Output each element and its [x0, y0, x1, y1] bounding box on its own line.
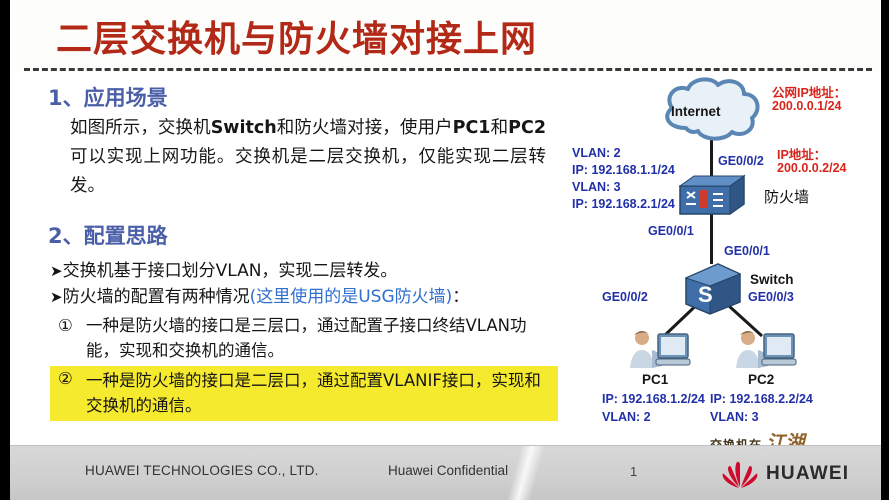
firewall-vlan-line: IP: 192.168.2.1/24 [572, 197, 675, 211]
slide-footer: HUAWEI TECHNOLOGIES CO., LTD. Huawei Con… [10, 445, 881, 500]
config-bullet-2-text: 防火墙的配置有两种情况 [63, 287, 250, 307]
pc2-vlan-label: VLAN: 3 [710, 410, 759, 424]
config-bullet-2-colon: ： [452, 287, 469, 307]
public-ip-value: 200.0.0.1/24 [772, 99, 842, 113]
bullet-arrow-icon: ➤ [50, 262, 63, 280]
footer-page-number: 1 [630, 464, 637, 479]
section-heading-config: 2、配置思路 [48, 220, 168, 250]
firewall-vlan-info-block: VLAN: 2 IP: 192.168.1.1/24 VLAN: 3 IP: 1… [572, 146, 675, 211]
footer-company-text: HUAWEI TECHNOLOGIES CO., LTD. [85, 463, 319, 478]
page-title: 二层交换机与防火墙对接上网 [56, 10, 537, 62]
slide-title-bar: 二层交换机与防火墙对接上网 [10, 0, 881, 72]
firewall-vlan-line: VLAN: 3 [572, 180, 675, 194]
config-numbered-item: ① 一种是防火墙的接口是三层口，通过配置子接口终结VLAN功能，实现和交换机的通… [50, 313, 558, 363]
pc2-user-icon [732, 326, 802, 372]
firewall-ip-value: 200.0.0.2/24 [777, 161, 847, 175]
config-bullet-1: ➤交换机基于接口划分VLAN，实现二层转发。 [50, 258, 558, 284]
scenario-text-4: 可以实现上网功能。交换机是二层交换机，仅能实现二层转发。 [70, 147, 546, 196]
pc1-name-label: PC1 [642, 372, 668, 387]
config-bullet-2-note: (这里使用的是USG防火墙) [250, 287, 453, 307]
scenario-paragraph: 如图所示，交换机Switch和防火墙对接，使用户PC1和PC2可以实现上网功能。… [70, 114, 546, 201]
config-bullet-list: ➤交换机基于接口划分VLAN，实现二层转发。 ➤防火墙的配置有两种情况(这里使用… [50, 258, 558, 421]
scenario-bold-pc1: PC1 [453, 118, 491, 138]
internet-label: Internet [671, 104, 721, 119]
title-divider [24, 68, 872, 71]
switch-port-ge0-0-1-label: GE0/0/1 [724, 244, 770, 258]
network-topology-diagram: Internet 公网IP地址： 200.0.0.1/24 GE0/0/2 IP… [566, 74, 881, 444]
config-item-text: 一种是防火墙的接口是二层口，通过配置VLANIF接口，实现和交换机的通信。 [86, 371, 541, 415]
content-column: 1、应用场景 如图所示，交换机Switch和防火墙对接，使用户PC1和PC2可以… [10, 74, 576, 444]
huawei-wordmark: HUAWEI [766, 463, 849, 485]
scenario-text-1: 如图所示，交换机 [70, 118, 211, 138]
footer-confidential-text: Huawei Confidential [388, 463, 508, 478]
section-heading-scenario: 1、应用场景 [48, 82, 168, 112]
config-item-number: ② [58, 366, 73, 391]
scenario-bold-pc2: PC2 [508, 118, 546, 138]
switch-name-label: Switch [750, 272, 794, 287]
presentation-slide: 二层交换机与防火墙对接上网 1、应用场景 如图所示，交换机Switch和防火墙对… [0, 0, 889, 500]
switch-device-icon: S [682, 260, 744, 318]
config-bullet-2: ➤防火墙的配置有两种情况(这里使用的是USG防火墙)： [50, 284, 558, 310]
huawei-logo: HUAWEI [720, 458, 870, 490]
pc1-ip-label: IP: 192.168.1.2/24 [602, 392, 705, 406]
huawei-flower-icon [720, 460, 760, 490]
firewall-device-icon [676, 172, 748, 220]
pc2-name-label: PC2 [748, 372, 774, 387]
bullet-arrow-icon: ➤ [50, 288, 63, 306]
pc2-ip-label: IP: 192.168.2.2/24 [710, 392, 813, 406]
firewall-vlan-line: IP: 192.168.1.1/24 [572, 163, 675, 177]
switch-port-ge0-0-3-label: GE0/0/3 [748, 290, 794, 304]
firewall-vlan-line: VLAN: 2 [572, 146, 675, 160]
config-bullet-1-text: 交换机基于接口划分VLAN，实现二层转发。 [63, 261, 398, 281]
scenario-bold-switch: Switch [211, 118, 277, 138]
svg-text:S: S [698, 282, 713, 307]
firewall-port-ge0-0-2-label: GE0/0/2 [718, 154, 764, 168]
pc1-user-icon [626, 326, 696, 372]
switch-port-ge0-0-2-label: GE0/0/2 [602, 290, 648, 304]
config-item-number: ① [58, 313, 73, 338]
scenario-text-2: 和防火墙对接，使用户 [277, 118, 453, 138]
scenario-text-3: 和 [490, 118, 508, 138]
config-item-text: 一种是防火墙的接口是三层口，通过配置子接口终结VLAN功能，实现和交换机的通信。 [86, 316, 527, 360]
config-numbered-item-highlighted: ② 一种是防火墙的接口是二层口，通过配置VLANIF接口，实现和交换机的通信。 [50, 366, 558, 421]
firewall-name-label: 防火墙 [764, 186, 809, 207]
firewall-port-ge0-0-1-label: GE0/0/1 [648, 224, 694, 238]
pc1-vlan-label: VLAN: 2 [602, 410, 651, 424]
